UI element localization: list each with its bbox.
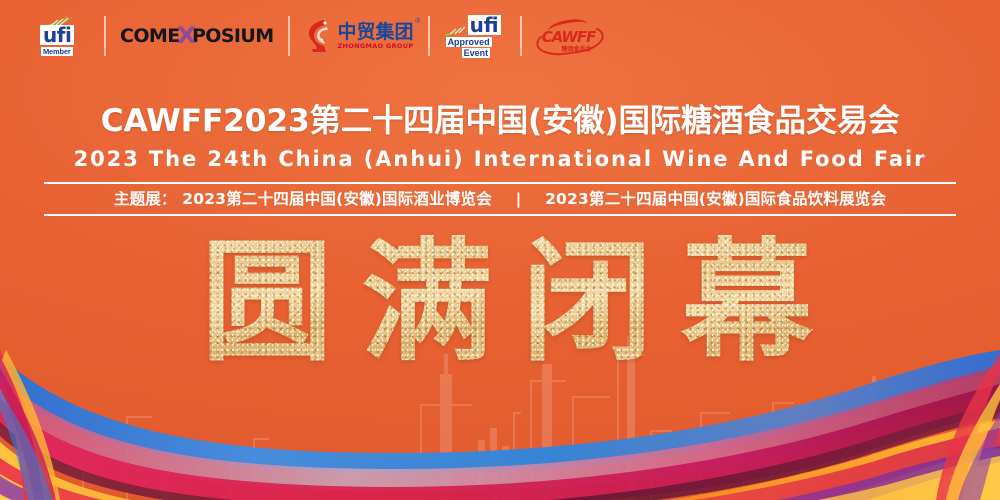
theme-exhibition-2: 2023第二十四届中国(安徽)国际食品饮料展览会 (545, 190, 886, 208)
cawff-logo[interactable]: CAWFF 糖酒食品会 (522, 10, 616, 62)
page-title: CAWFF2023第二十四届中国(安徽)国际糖酒食品交易会 (0, 101, 1000, 141)
ribbon-wave-decoration (0, 350, 1000, 500)
zhongmao-chinese-name: 中贸集团 (338, 23, 414, 42)
ufi-member-logo[interactable]: ufi Member (22, 10, 104, 62)
theme-separator: | (498, 190, 540, 208)
theme-label: 主题展： (114, 190, 177, 208)
event-banner: ufi Member COME X POSIUM (0, 0, 1000, 500)
theme-exhibitions-bar: 主题展： 2023第二十四届中国(安徽)国际酒业博览会 | 2023第二十四届中… (44, 182, 956, 216)
dragon-icon (304, 19, 334, 53)
theme-exhibition-1: 2023第二十四届中国(安徽)国际酒业博览会 (182, 190, 492, 208)
page-subtitle: 2023 The 24th China (Anhui) Internationa… (0, 145, 1000, 173)
comexposium-logo[interactable]: COME X POSIUM (106, 10, 288, 62)
zhongmao-group-logo[interactable]: 中贸集团 ZHONGMAO GROUP ® (290, 10, 428, 62)
sponsor-logo-bar: ufi Member COME X POSIUM (22, 10, 616, 62)
registered-mark: ® (415, 18, 420, 25)
ufi-approved-line2: Event (462, 48, 491, 58)
ufi-approved-wordmark: ufi (468, 15, 501, 35)
ufi-member-label: Member (41, 47, 73, 56)
comexposium-part1: COME (120, 25, 180, 47)
cawff-chinese-label: 糖酒食品会 (562, 44, 592, 53)
comexposium-x-mark: X (176, 24, 195, 49)
ufi-approved-event-logo[interactable]: ufi Approved Event (430, 10, 520, 62)
comexposium-part2: POSIUM (192, 25, 274, 47)
ufi-approved-line1: Approved (446, 37, 492, 47)
zhongmao-english-name: ZHONGMAO GROUP (338, 42, 414, 50)
ufi-wordmark: ufi (40, 25, 74, 45)
